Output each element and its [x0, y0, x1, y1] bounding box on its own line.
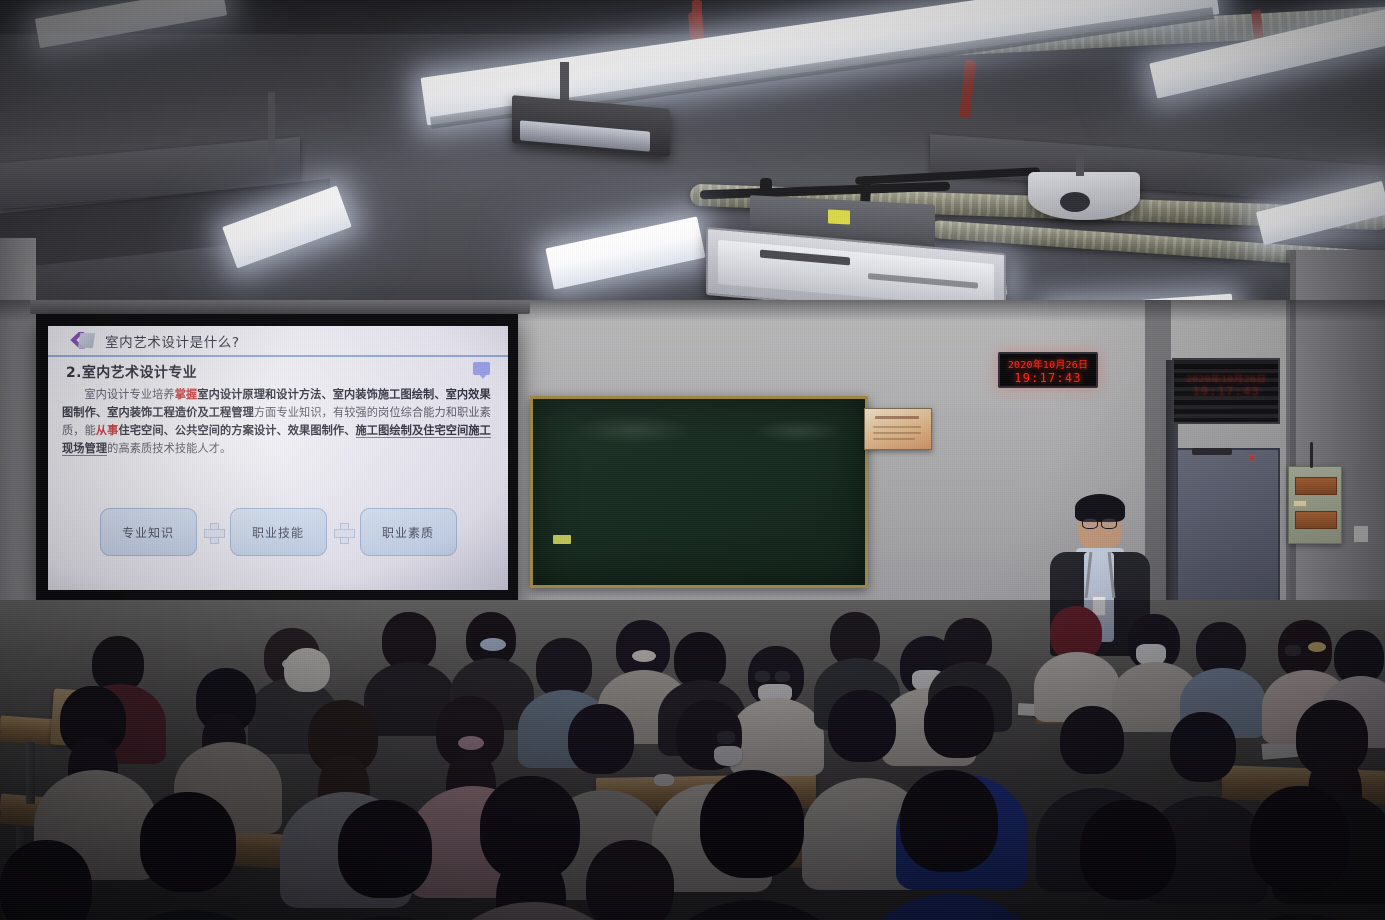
cup: [654, 774, 674, 786]
ac-warning-label: [828, 209, 850, 224]
plus-icon-2: [334, 523, 353, 542]
dome-camera-mount: [1076, 150, 1084, 176]
door-handle: [1192, 448, 1232, 455]
chip-vocational-skills: 职业技能: [230, 508, 327, 556]
presenter-glasses-right: [1101, 518, 1117, 529]
slide-subtitle: 2.室内艺术设计专业: [66, 362, 197, 382]
run-0: 室内设计专业培养: [84, 388, 174, 401]
clock-date: 2020年10月26日: [1008, 356, 1088, 371]
green-blackboard: [530, 396, 868, 588]
clock-time: 19:17:43: [1014, 371, 1081, 385]
slide-chip-row: 专业知识 职业技能 职业素质: [48, 508, 508, 556]
slide-header-title: 室内艺术设计是什么?: [105, 331, 240, 351]
clock-reflection: 2020年10月26日 19:17:43: [1186, 371, 1266, 398]
slide-paragraph: 室内设计专业培养掌握室内设计原理和设计方法、室内装饰施工图绘制、室内效果图制作、…: [62, 386, 494, 459]
led-clock-display: 2020年10月26日 19:17:43: [998, 352, 1098, 388]
presentation-slide: 室内艺术设计是什么? 2.室内艺术设计专业 室内设计专业培养掌握室内设计原理和设…: [48, 326, 508, 590]
run-6: 住宅空间、公共空间的方案设计、效果图制作、: [118, 424, 355, 437]
blackboard-sticky-note: [553, 535, 571, 544]
electrical-panel: [1288, 466, 1342, 544]
dome-camera-lens: [1060, 192, 1090, 212]
wall-poster: [864, 408, 932, 450]
panel-label-tag: [1293, 500, 1307, 507]
panel-window-bottom: [1295, 511, 1337, 529]
screen-mount-rod: [268, 92, 275, 180]
run-5: 从事: [96, 424, 119, 437]
door-indicator-led: [1250, 456, 1254, 460]
run-2: 室内设计原理和设计方法、室内装饰施工图绘制、: [197, 388, 445, 401]
presenter-hair: [1075, 494, 1125, 522]
projection-screen: 室内艺术设计是什么? 2.室内艺术设计专业 室内设计专业培养掌握室内设计原理和设…: [36, 314, 518, 602]
plus-icon-1: [204, 523, 223, 542]
classroom-photo: 室内艺术设计是什么? 2.室内艺术设计专业 室内设计专业培养掌握室内设计原理和设…: [0, 0, 1385, 920]
chip-professional-knowledge: 专业知识: [100, 508, 197, 556]
speech-bubble-icon: [473, 362, 490, 375]
run-8: 的高素质技术技能人才。: [107, 442, 231, 455]
red-pipe-2: [692, 0, 702, 22]
screen-housing: [30, 300, 530, 314]
door-transom-glass: 2020年10月26日 19:17:43: [1172, 358, 1280, 424]
clock-reflection-time: 19:17:43: [1192, 385, 1259, 398]
presenter-glasses-left: [1082, 518, 1098, 529]
desk-leg-1: [26, 742, 35, 804]
slide-header: 室内艺术设计是什么?: [48, 326, 508, 357]
left-wall: [0, 238, 36, 638]
chip-vocational-quality: 职业素质: [360, 508, 457, 556]
clock-reflection-date: 2020年10月26日: [1186, 371, 1266, 385]
panel-wire: [1310, 442, 1313, 468]
panel-window-top: [1295, 477, 1337, 495]
purple-chevron-icon: [70, 331, 96, 351]
run-1: 掌握: [175, 388, 198, 401]
wall-switch: [1354, 526, 1368, 542]
